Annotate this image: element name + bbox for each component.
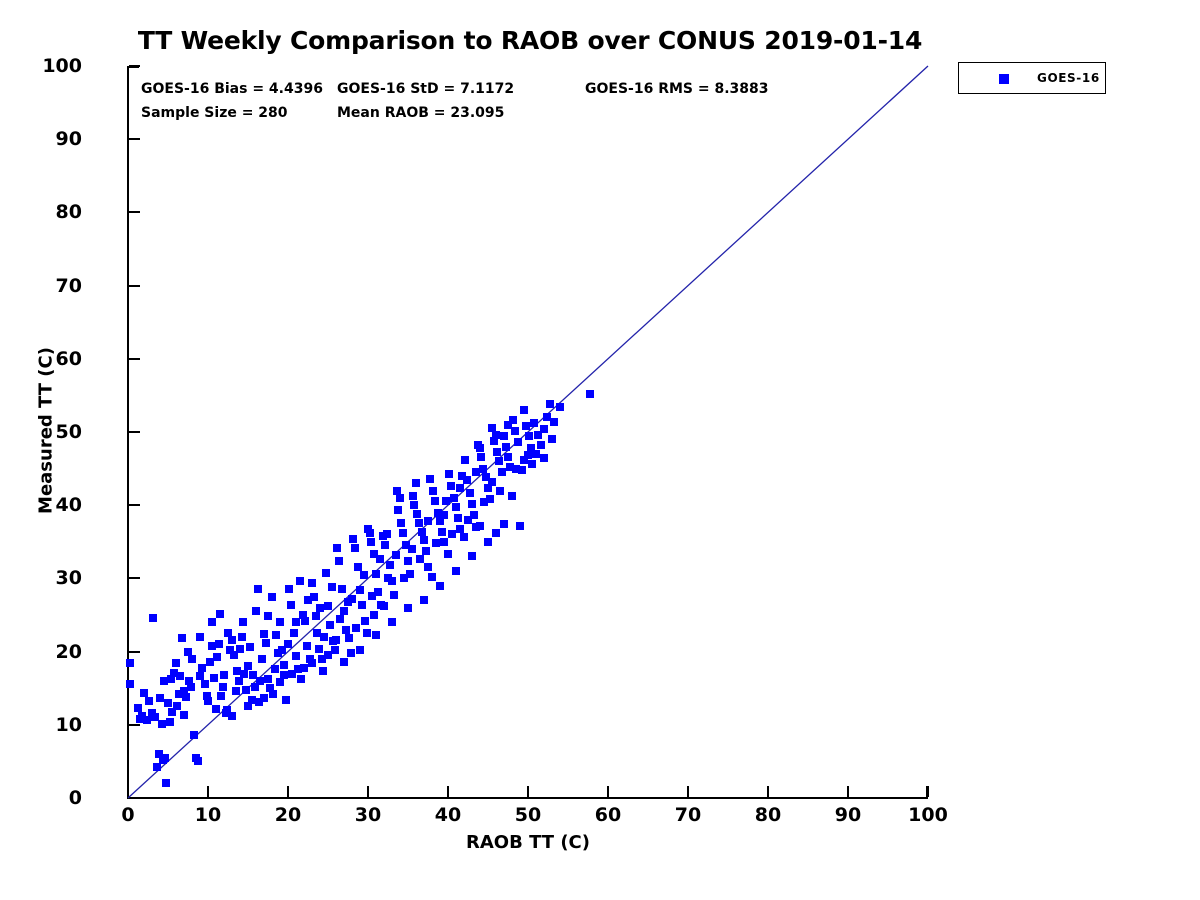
scatter-point [436, 582, 444, 590]
x-tick-label: 80 [738, 804, 798, 826]
scatter-point [160, 677, 168, 685]
scatter-point [468, 552, 476, 560]
scatter-point [460, 533, 468, 541]
scatter-point [345, 634, 353, 642]
scatter-point [244, 702, 252, 710]
x-tick-label: 60 [578, 804, 638, 826]
scatter-point [235, 677, 243, 685]
scatter-point [367, 538, 375, 546]
scatter-point [356, 586, 364, 594]
scatter-point [468, 500, 476, 508]
scatter-point [336, 615, 344, 623]
scatter-point [172, 659, 180, 667]
scatter-point [335, 557, 343, 565]
scatter-point [452, 503, 460, 511]
scatter-point [260, 630, 268, 638]
scatter-point [322, 569, 330, 577]
scatter-point [254, 585, 262, 593]
scatter-point [354, 563, 362, 571]
scatter-point [444, 550, 452, 558]
scatter-point [426, 475, 434, 483]
scatter-point [525, 432, 533, 440]
scatter-point [428, 573, 436, 581]
scatter-point [530, 419, 538, 427]
scatter-point [383, 530, 391, 538]
scatter-point [550, 418, 558, 426]
scatter-point [269, 690, 277, 698]
scatter-point [164, 699, 172, 707]
scatter-point [312, 612, 320, 620]
scatter-point [537, 441, 545, 449]
scatter-point [447, 482, 455, 490]
scatter-point [496, 487, 504, 495]
scatter-point [409, 492, 417, 500]
scatter-point [404, 557, 412, 565]
scatter-point [276, 678, 284, 686]
scatter-point [370, 611, 378, 619]
scatter-plot-figure: TT Weekly Comparison to RAOB over CONUS … [0, 0, 1200, 900]
scatter-point [361, 617, 369, 625]
scatter-point [246, 643, 254, 651]
plot-area [128, 66, 928, 798]
x-tick-label: 20 [258, 804, 318, 826]
x-tick-label: 50 [498, 804, 558, 826]
scatter-point [148, 709, 156, 717]
y-tick-label: 60 [56, 348, 82, 370]
scatter-point [292, 652, 300, 660]
scatter-point [528, 460, 536, 468]
scatter-point [228, 712, 236, 720]
scatter-point [479, 465, 487, 473]
scatter-point [303, 642, 311, 650]
scatter-point [212, 705, 220, 713]
scatter-point [502, 443, 510, 451]
scatter-point [466, 489, 474, 497]
scatter-point [332, 636, 340, 644]
scatter-point [178, 634, 186, 642]
y-tick-label: 90 [56, 128, 82, 150]
scatter-point [308, 659, 316, 667]
scatter-point [396, 494, 404, 502]
scatter-point [340, 607, 348, 615]
y-tick-label: 100 [42, 55, 82, 77]
x-axis-title: RAOB TT (C) [128, 832, 928, 853]
scatter-point [461, 456, 469, 464]
scatter-point [292, 618, 300, 626]
scatter-point [349, 535, 357, 543]
scatter-point [454, 514, 462, 522]
scatter-point [546, 400, 554, 408]
scatter-point [532, 450, 540, 458]
scatter-point [347, 649, 355, 657]
x-tick-label: 100 [898, 804, 958, 826]
scatter-point [284, 640, 292, 648]
scatter-point [320, 633, 328, 641]
scatter-point [488, 478, 496, 486]
scatter-point [340, 658, 348, 666]
scatter-point [276, 618, 284, 626]
scatter-point [410, 501, 418, 509]
y-tick-label: 20 [56, 641, 82, 663]
scatter-point [422, 547, 430, 555]
scatter-point [540, 454, 548, 462]
scatter-point [392, 551, 400, 559]
x-tick-label: 90 [818, 804, 878, 826]
scatter-point [201, 680, 209, 688]
scatter-point [464, 516, 472, 524]
scatter-point [324, 651, 332, 659]
scatter-point [412, 479, 420, 487]
scatter-point [548, 435, 556, 443]
y-tick-label: 10 [56, 714, 82, 736]
scatter-point [272, 631, 280, 639]
scatter-point [586, 390, 594, 398]
scatter-point [328, 583, 336, 591]
scatter-point [413, 510, 421, 518]
scatter-point [388, 618, 396, 626]
scatter-point [372, 570, 380, 578]
scatter-point [456, 484, 464, 492]
scatter-point [188, 655, 196, 663]
scatter-point [376, 555, 384, 563]
scatter-point [297, 675, 305, 683]
scatter-point [480, 498, 488, 506]
scatter-point [512, 465, 520, 473]
scatter-point [450, 494, 458, 502]
scatter-point [472, 468, 480, 476]
scatter-point [217, 692, 225, 700]
scatter-point [342, 626, 350, 634]
scatter-point [424, 563, 432, 571]
scatter-point [420, 536, 428, 544]
legend-label-goes16: GOES-16 [1037, 71, 1100, 85]
scatter-point [168, 708, 176, 716]
scatter-point [511, 427, 519, 435]
scatter-point [238, 633, 246, 641]
scatter-point [208, 618, 216, 626]
scatter-point [180, 711, 188, 719]
scatter-point [524, 451, 532, 459]
scatter-point [520, 406, 528, 414]
scatter-point [384, 574, 392, 582]
scatter-point [438, 528, 446, 536]
scatter-point [140, 689, 148, 697]
page-title: TT Weekly Comparison to RAOB over CONUS … [0, 26, 1060, 55]
scatter-point [208, 642, 216, 650]
scatter-point [390, 591, 398, 599]
scatter-point [239, 618, 247, 626]
scatter-point [134, 704, 142, 712]
scatter-point [408, 545, 416, 553]
legend[interactable]: GOES-16 [958, 62, 1106, 94]
scatter-point [348, 595, 356, 603]
scatter-point [143, 716, 151, 724]
y-tick-label: 0 [69, 787, 82, 809]
scatter-point [358, 601, 366, 609]
scatter-point [372, 631, 380, 639]
scatter-point [448, 530, 456, 538]
scatter-point [194, 757, 202, 765]
scatter-point [352, 624, 360, 632]
y-tick-label: 40 [56, 494, 82, 516]
scatter-point [476, 522, 484, 530]
scatter-point [500, 520, 508, 528]
y-tick-label: 80 [56, 201, 82, 223]
scatter-point [493, 448, 501, 456]
scatter-point [360, 571, 368, 579]
scatter-point [228, 636, 236, 644]
scatter-point [256, 677, 264, 685]
scatter-point [415, 519, 423, 527]
scatter-point [315, 645, 323, 653]
scatter-point [456, 525, 464, 533]
scatter-point [258, 655, 266, 663]
scatter-point [363, 629, 371, 637]
scatter-point [240, 670, 248, 678]
scatter-point [504, 421, 512, 429]
scatter-point [262, 639, 270, 647]
scatter-point [287, 601, 295, 609]
scatter-point [416, 555, 424, 563]
scatter-point [397, 519, 405, 527]
scatter-point [136, 715, 144, 723]
scatter-point [296, 577, 304, 585]
x-tick-label: 70 [658, 804, 718, 826]
scatter-point [326, 621, 334, 629]
scatter-point [213, 653, 221, 661]
scatter-point [380, 602, 388, 610]
scatter-point [300, 664, 308, 672]
scatter-point [364, 525, 372, 533]
scatter-point [404, 604, 412, 612]
scatter-point [333, 544, 341, 552]
x-tick-label: 10 [178, 804, 238, 826]
scatter-point [290, 629, 298, 637]
scatter-point [260, 694, 268, 702]
scatter-point [280, 661, 288, 669]
scatter-point [399, 529, 407, 537]
scatter-point [440, 511, 448, 519]
scatter-point [288, 670, 296, 678]
scatter-point [498, 468, 506, 476]
scatter-point [368, 592, 376, 600]
scatter-point [187, 683, 195, 691]
scatter-point [304, 596, 312, 604]
scatter-point [316, 604, 324, 612]
scatter-point [301, 617, 309, 625]
scatter-point [331, 646, 339, 654]
scatter-point [319, 667, 327, 675]
scatter-point [210, 674, 218, 682]
y-tick-label: 70 [56, 275, 82, 297]
scatter-point [418, 528, 426, 536]
scatter-point [244, 662, 252, 670]
scatter-point [216, 610, 224, 618]
scatter-point [424, 517, 432, 525]
scatter-point [161, 754, 169, 762]
scatter-point [440, 538, 448, 546]
scatter-point [308, 579, 316, 587]
scatter-point [492, 431, 500, 439]
scatter-point [156, 694, 164, 702]
scatter-point [153, 763, 161, 771]
scatter-point [516, 522, 524, 530]
scatter-point [285, 585, 293, 593]
scatter-point [338, 585, 346, 593]
scatter-point [126, 659, 134, 667]
x-tick-label: 30 [338, 804, 398, 826]
scatter-point [351, 544, 359, 552]
scatter-point [522, 422, 530, 430]
scatter-point [508, 492, 516, 500]
scatter-point [224, 629, 232, 637]
scatter-point [215, 640, 223, 648]
scatter-point [514, 438, 522, 446]
scatter-point [400, 574, 408, 582]
scatter-point [158, 720, 166, 728]
scatter-point [282, 696, 290, 704]
scatter-point [149, 614, 157, 622]
scatter-point [268, 593, 276, 601]
scatter-point [264, 612, 272, 620]
scatter-point [429, 487, 437, 495]
scatter-point [556, 403, 564, 411]
scatter-point [500, 432, 508, 440]
scatter-point [492, 529, 500, 537]
scatter-point [220, 671, 228, 679]
scatter-point [432, 539, 440, 547]
scatter-point [264, 675, 272, 683]
scatter-point [204, 697, 212, 705]
scatter-point [463, 476, 471, 484]
scatter-point [196, 633, 204, 641]
scatter-point [162, 779, 170, 787]
scatter-point [540, 425, 548, 433]
scatter-point [476, 444, 484, 452]
scatter-point [452, 567, 460, 575]
scatter-point [232, 687, 240, 695]
scatter-point [356, 646, 364, 654]
scatter-point [180, 687, 188, 695]
scatter-point [504, 453, 512, 461]
scatter-point [242, 686, 250, 694]
y-tick-label: 30 [56, 567, 82, 589]
scatter-point [381, 541, 389, 549]
legend-marker-goes16-icon [999, 74, 1009, 84]
scatter-point [324, 602, 332, 610]
scatter-point [386, 561, 394, 569]
y-axis-title: Measured TT (C) [36, 341, 57, 521]
x-tick-label: 0 [98, 804, 158, 826]
scatter-point [445, 470, 453, 478]
x-tick-label: 40 [418, 804, 478, 826]
scatter-point [126, 680, 134, 688]
scatter-point [420, 596, 428, 604]
scatter-point [166, 718, 174, 726]
y-tick-label: 50 [56, 421, 82, 443]
scatter-point [252, 607, 260, 615]
scatter-point [477, 453, 485, 461]
scatter-point [176, 672, 184, 680]
scatter-point [484, 538, 492, 546]
scatter-point [236, 645, 244, 653]
scatter-point [145, 697, 153, 705]
scatter-point [495, 457, 503, 465]
scatter-point [219, 683, 227, 691]
scatter-point [431, 497, 439, 505]
scatter-point [394, 506, 402, 514]
scatter-point [271, 665, 279, 673]
scatter-point [190, 731, 198, 739]
